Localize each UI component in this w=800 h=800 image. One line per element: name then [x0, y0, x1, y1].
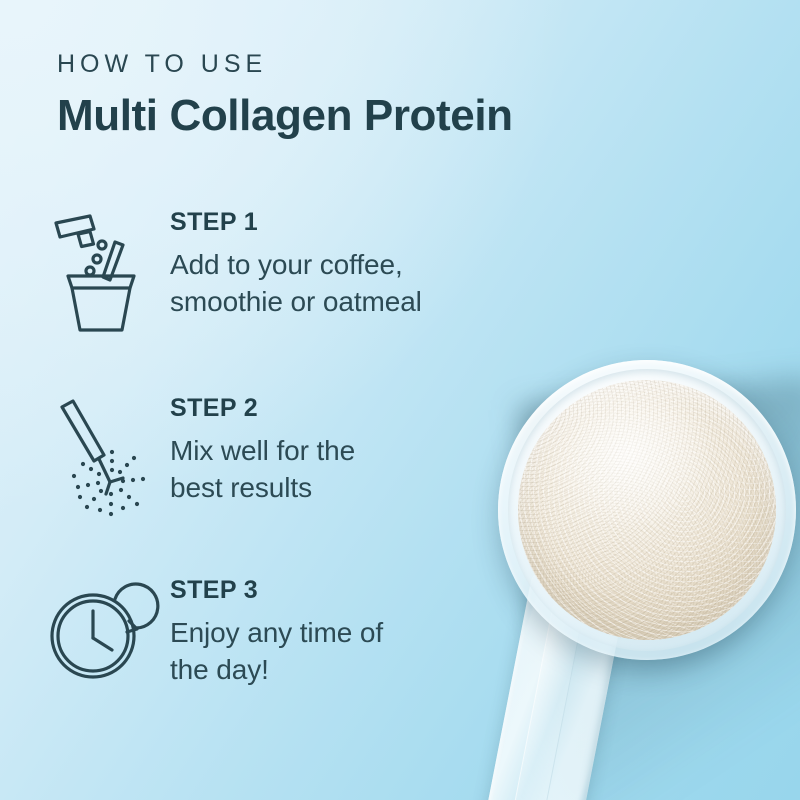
step-description-line: best results [170, 469, 530, 506]
step-item: STEP 3 Enjoy any time of the day! [0, 574, 560, 734]
step-description: Mix well for the best results [170, 432, 530, 506]
step-description-line: Mix well for the [170, 432, 530, 469]
step-description: Enjoy any time of the day! [170, 614, 530, 688]
step-text-block: STEP 2 Mix well for the best results [162, 392, 560, 506]
step-label: STEP 3 [170, 578, 560, 603]
eyebrow-text: HOW TO USE [57, 52, 737, 77]
stirrer-mixing-burst-icon [42, 392, 162, 528]
step-item: STEP 2 Mix well for the best results [0, 392, 560, 552]
step-description-line: Enjoy any time of [170, 614, 530, 651]
cup-with-straw-and-scoop-icon [42, 206, 162, 342]
steps-list: STEP 1 Add to your coffee, smoothie or o… [0, 206, 560, 734]
step-description-line: the day! [170, 651, 530, 688]
step-description-line: smoothie or oatmeal [170, 283, 530, 320]
step-text-block: STEP 1 Add to your coffee, smoothie or o… [162, 206, 560, 320]
step-label: STEP 1 [170, 210, 560, 235]
how-to-use-infographic: HOW TO USE Multi Collagen Protein [0, 0, 800, 800]
step-label: STEP 2 [170, 396, 560, 421]
scoop-cast-shadow [519, 375, 800, 800]
step-text-block: STEP 3 Enjoy any time of the day! [162, 574, 560, 688]
step-description: Add to your coffee, smoothie or oatmeal [170, 246, 530, 320]
header-block: HOW TO USE Multi Collagen Protein [57, 52, 737, 139]
step-item: STEP 1 Add to your coffee, smoothie or o… [0, 206, 560, 366]
clock-with-rotation-arrow-icon [42, 574, 162, 710]
step-description-line: Add to your coffee, [170, 246, 530, 283]
page-title: Multi Collagen Protein [57, 93, 737, 139]
